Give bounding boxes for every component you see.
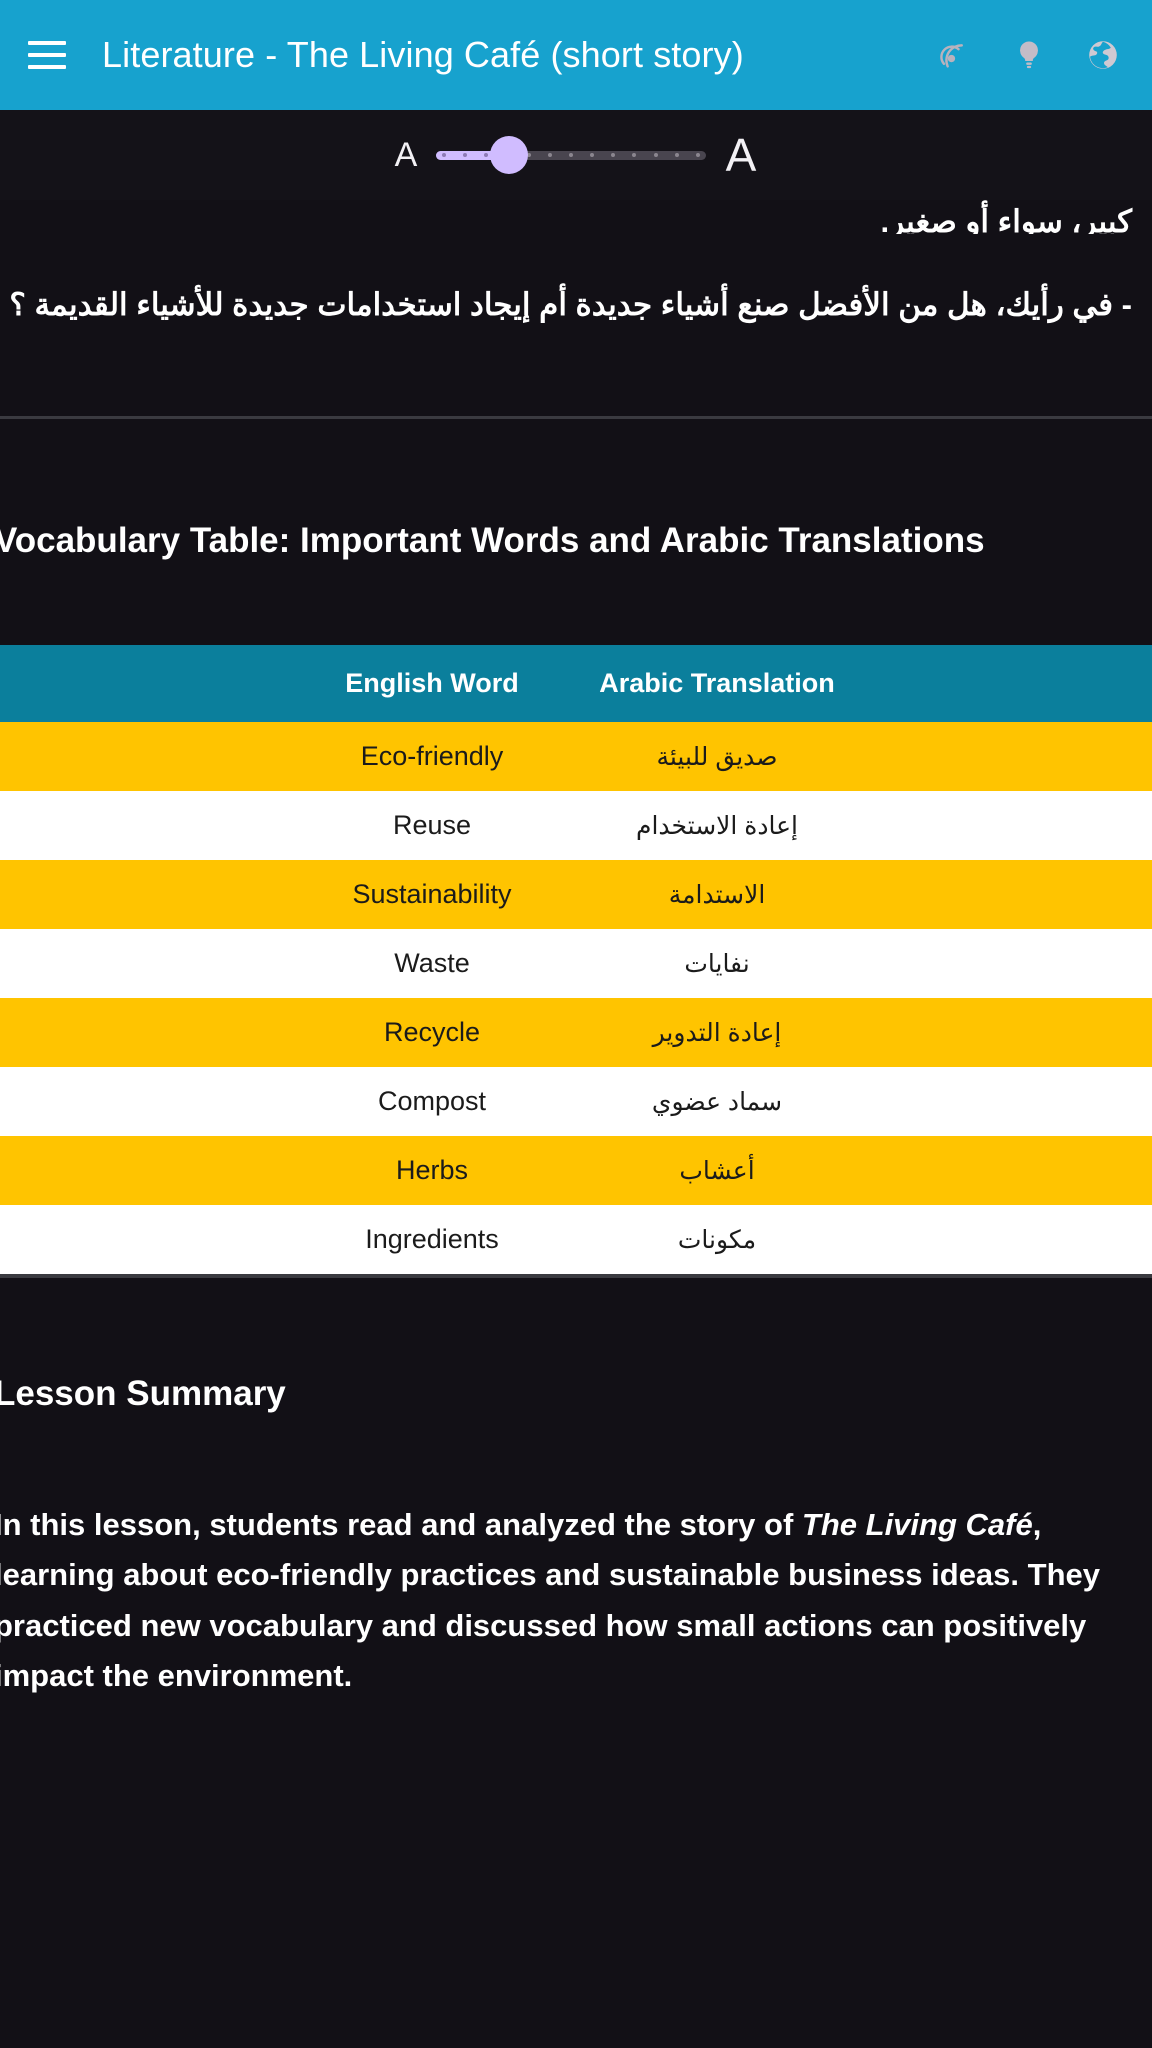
row-spacer: [0, 929, 282, 998]
vocabulary-section-title: Vocabulary Table: Important Words and Ar…: [0, 419, 1152, 561]
globe-icon[interactable]: [1080, 32, 1126, 78]
slider-tick: [548, 153, 552, 157]
table-header-row: English Word Arabic Translation: [0, 645, 1152, 722]
summary-text-before: In this lesson, students read and analyz…: [0, 1507, 802, 1542]
hamburger-line: [28, 65, 66, 69]
slider-tick: [696, 153, 700, 157]
slider-tick: [463, 153, 467, 157]
row-spacer: [852, 860, 1152, 929]
cell-arabic: أعشاب: [582, 1136, 852, 1205]
row-spacer: [852, 1136, 1152, 1205]
table-row: Recycle إعادة التدوير: [0, 998, 1152, 1067]
row-spacer: [0, 1067, 282, 1136]
cell-arabic: صديق للبيئة: [582, 722, 852, 791]
vocabulary-table: English Word Arabic Translation Eco-frie…: [0, 645, 1152, 1274]
table-header-arabic: Arabic Translation: [582, 645, 852, 722]
slider-tick: [632, 153, 636, 157]
font-increase-label[interactable]: A: [706, 132, 776, 178]
discussion-question: - في رأيك، هل من الأفضل صنع أشياء جديدة …: [0, 280, 1138, 330]
lightbulb-icon[interactable]: [1006, 32, 1052, 78]
row-spacer: [0, 722, 282, 791]
slider-tick: [484, 153, 488, 157]
summary-story-title: The Living Café: [802, 1507, 1033, 1542]
cell-arabic: مكونات: [582, 1205, 852, 1274]
table-row: Herbs أعشاب: [0, 1136, 1152, 1205]
font-size-control: A A: [0, 110, 1152, 200]
app-bar: Literature - The Living Café (short stor…: [0, 0, 1152, 110]
hamburger-line: [28, 53, 66, 57]
slider-tick: [442, 153, 446, 157]
row-spacer: [852, 929, 1152, 998]
table-header-spacer: [0, 645, 282, 722]
cell-arabic: نفايات: [582, 929, 852, 998]
slider-ticks: [442, 151, 700, 160]
hamburger-line: [28, 41, 66, 45]
font-size-slider[interactable]: [436, 135, 706, 175]
table-row: Eco-friendly صديق للبيئة: [0, 722, 1152, 791]
row-spacer: [0, 1136, 282, 1205]
cell-english: Herbs: [282, 1136, 582, 1205]
slider-tick: [675, 153, 679, 157]
table-row: Ingredients مكونات: [0, 1205, 1152, 1274]
font-decrease-label[interactable]: A: [376, 138, 436, 172]
slider-tick: [569, 153, 573, 157]
table-header-english: English Word: [282, 645, 582, 722]
lesson-summary-text: In this lesson, students read and analyz…: [0, 1500, 1152, 1701]
vocabulary-table-wrapper: English Word Arabic Translation Eco-frie…: [0, 645, 1152, 1274]
table-row: Sustainability الاستدامة: [0, 860, 1152, 929]
cell-english: Recycle: [282, 998, 582, 1067]
page-title: Literature - The Living Café (short stor…: [102, 34, 932, 76]
cell-english: Ingredients: [282, 1205, 582, 1274]
cell-english: Compost: [282, 1067, 582, 1136]
row-spacer: [852, 998, 1152, 1067]
cell-arabic: سماد عضوي: [582, 1067, 852, 1136]
cell-english: Reuse: [282, 791, 582, 860]
row-spacer: [0, 998, 282, 1067]
slider-tick: [590, 153, 594, 157]
slider-tick: [654, 153, 658, 157]
clipped-text-line: كبير، سواء أو صغير.: [0, 200, 1138, 234]
cell-english: Waste: [282, 929, 582, 998]
row-spacer: [852, 791, 1152, 860]
table-row: Compost سماد عضوي: [0, 1067, 1152, 1136]
cell-english: Sustainability: [282, 860, 582, 929]
row-spacer: [0, 791, 282, 860]
reading-passage: كبير، سواء أو صغير. - في رأيك، هل من الأ…: [0, 200, 1152, 330]
vocabulary-table-body: Eco-friendly صديق للبيئة Reuse إعادة الا…: [0, 722, 1152, 1274]
cell-arabic: إعادة التدوير: [582, 998, 852, 1067]
hamburger-menu-icon[interactable]: [28, 38, 70, 72]
table-row: Waste نفايات: [0, 929, 1152, 998]
lesson-content: كبير، سواء أو صغير. - في رأيك، هل من الأ…: [0, 200, 1152, 1701]
row-spacer: [852, 1067, 1152, 1136]
lesson-summary-title: Lesson Summary: [0, 1278, 1152, 1414]
listen-icon[interactable]: [932, 32, 978, 78]
table-row: Reuse إعادة الاستخدام: [0, 791, 1152, 860]
slider-tick: [611, 153, 615, 157]
row-spacer: [0, 1205, 282, 1274]
app-bar-actions: [932, 32, 1126, 78]
row-spacer: [852, 1205, 1152, 1274]
cell-arabic: إعادة الاستخدام: [582, 791, 852, 860]
slider-thumb[interactable]: [490, 136, 528, 174]
table-header-spacer: [852, 645, 1152, 722]
row-spacer: [0, 860, 282, 929]
row-spacer: [852, 722, 1152, 791]
cell-arabic: الاستدامة: [582, 860, 852, 929]
cell-english: Eco-friendly: [282, 722, 582, 791]
